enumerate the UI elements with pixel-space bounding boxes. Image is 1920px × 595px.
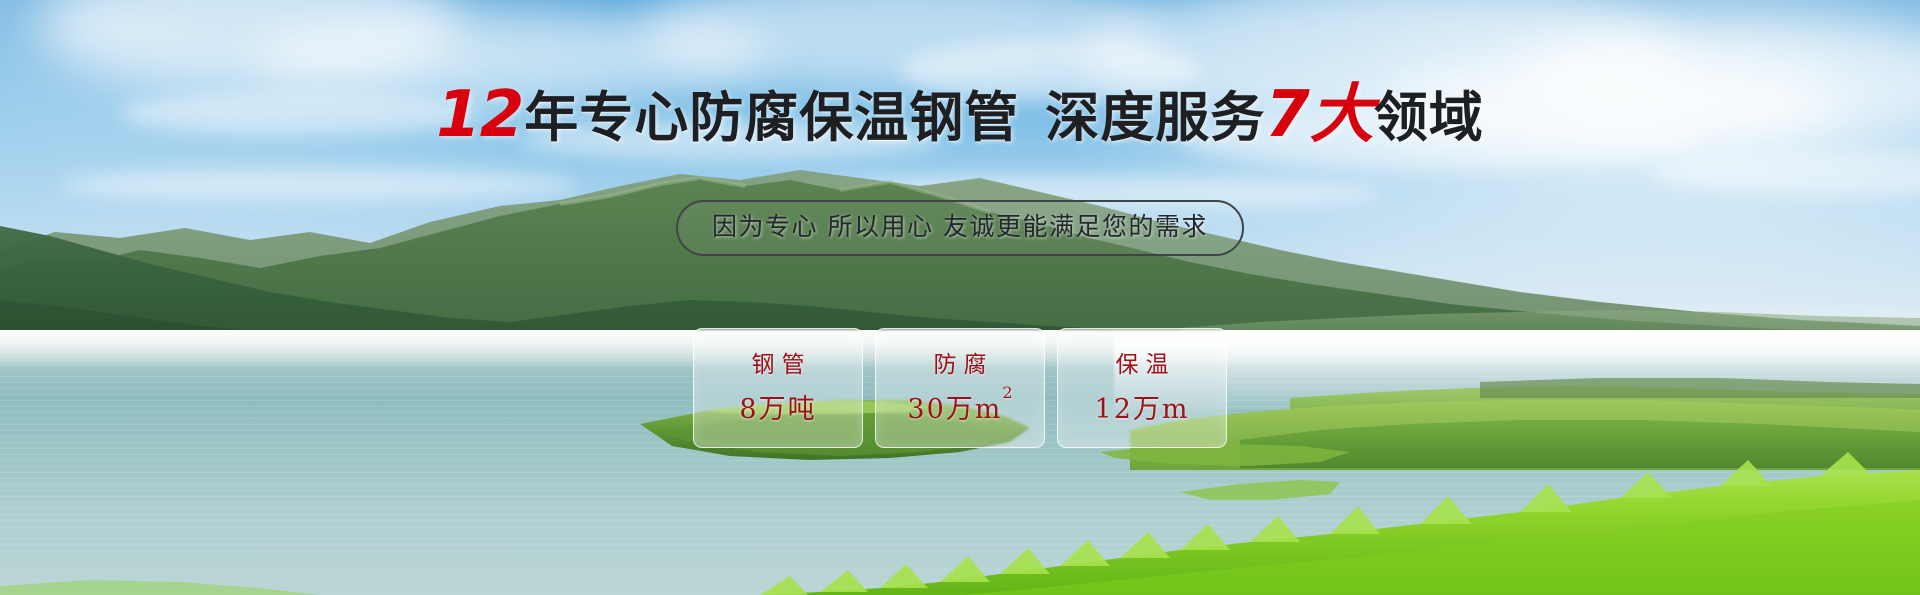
banner-content: 12年专心防腐保温钢管深度服务7大领域 因为专心 所以用心 友诚更能满足您的需求… <box>0 0 1920 595</box>
stat-value-sup: 2 <box>1002 383 1012 402</box>
stat-card-insulation: 保温 12万m <box>1057 328 1227 448</box>
stat-value-text: 30万m <box>907 394 1002 425</box>
stat-label: 钢管 <box>745 352 812 378</box>
stat-card-anticorrosion: 防腐 30万m2 <box>875 328 1045 448</box>
headline-fields-unit: 大 <box>1310 78 1373 152</box>
stat-value-text: 12万m <box>1095 394 1190 425</box>
stat-card-group: 钢管 8万吨 防腐 30万m2 保温 12万m <box>0 328 1920 448</box>
stat-value-text: 8万吨 <box>739 394 816 425</box>
stat-value: 12万m <box>1095 388 1190 425</box>
headline-fields-text: 领域 <box>1374 86 1484 149</box>
stat-value: 30万m2 <box>907 388 1012 425</box>
stat-label: 防腐 <box>927 352 994 378</box>
headline-service-text: 深度服务 <box>1045 86 1265 149</box>
hero-banner: 12年专心防腐保温钢管深度服务7大领域 因为专心 所以用心 友诚更能满足您的需求… <box>0 0 1920 595</box>
stat-label: 保温 <box>1109 352 1176 378</box>
headline-main-text: 年专心防腐保温钢管 <box>524 86 1019 149</box>
headline-years-number: 12 <box>436 78 523 152</box>
stat-value: 8万吨 <box>739 388 816 425</box>
tagline-pill: 因为专心 所以用心 友诚更能满足您的需求 <box>676 200 1244 256</box>
tagline-container: 因为专心 所以用心 友诚更能满足您的需求 <box>0 200 1920 256</box>
stat-card-steel-pipe: 钢管 8万吨 <box>693 328 863 448</box>
headline-fields-number: 7 <box>1265 78 1309 152</box>
headline: 12年专心防腐保温钢管深度服务7大领域 <box>0 84 1920 149</box>
